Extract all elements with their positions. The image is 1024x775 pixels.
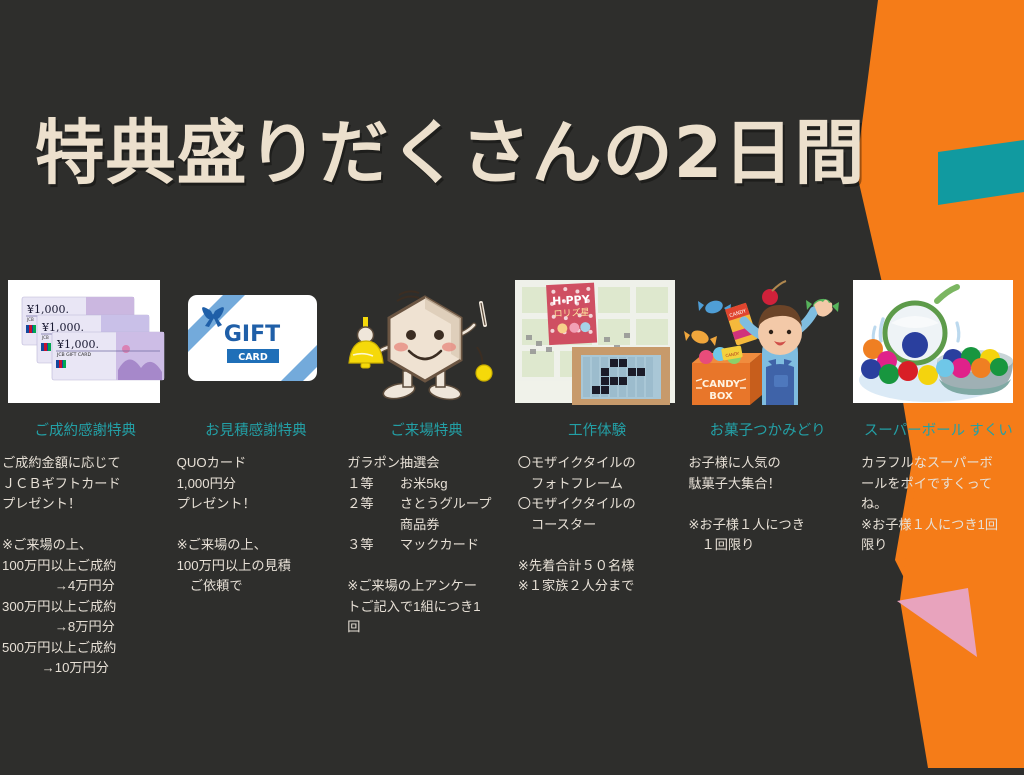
- column-body-text: カラフルなスーパーボ ールをポイですくって ね。 ※お子様１人につき1回 限り: [853, 453, 1024, 556]
- benefit-column-estimate: GIFT CARD お見積感謝特典 QUOカード 1,000円分 プレゼント！ …: [171, 275, 342, 775]
- gift-card-image: GIFT CARD: [171, 275, 342, 408]
- column-heading: スーパーボール すくい: [853, 422, 1024, 441]
- benefit-columns: ¥1,000. JCB ¥1,000. JCB: [0, 275, 1024, 775]
- column-heading: お見積感謝特典: [171, 422, 342, 441]
- svg-text:JCB: JCB: [41, 335, 49, 340]
- column-body-text: お子様に人気の 駄菓子大集合！ ※お子様１人につき １回限り: [682, 453, 853, 556]
- benefit-column-visit: ご来場特典 ガラポン抽選会 １等 お米5kg ２等 さとうグループ 商品券 ３等…: [341, 275, 512, 775]
- svg-text:GIFT: GIFT: [223, 322, 279, 347]
- jcb-gift-cards-image: ¥1,000. JCB ¥1,000. JCB: [0, 275, 171, 408]
- title-block: 特典盛りだくさんの2日間: [0, 108, 900, 198]
- garapon-mascot-image: [341, 275, 512, 408]
- svg-text:JCB GIFT CARD: JCB GIFT CARD: [56, 352, 91, 358]
- benefit-column-craft: H⋅PPY ロリズ星: [512, 275, 683, 775]
- superball-scooping-image: [853, 275, 1024, 408]
- column-body-text: ご成約金額に応じて ＪＣＢギフトカード プレゼント！ ※ご来場の上、 100万円…: [0, 453, 171, 679]
- svg-text:¥1,000.: ¥1,000.: [56, 338, 99, 351]
- svg-text:H⋅PPY: H⋅PPY: [552, 293, 591, 308]
- svg-text:¥1,000.: ¥1,000.: [26, 303, 69, 316]
- benefit-column-candy: CANDY: [682, 275, 853, 775]
- column-body-text: ガラポン抽選会 １等 お米5kg ２等 さとうグループ 商品券 ３等 マックカー…: [341, 453, 512, 638]
- candy-box-boy-image: CANDY: [682, 275, 853, 408]
- svg-text:JCB: JCB: [26, 317, 34, 322]
- column-heading: 工作体験: [512, 422, 683, 441]
- benefit-column-superball: スーパーボール すくい カラフルなスーパーボ ールをポイですくって ね。 ※お子…: [853, 275, 1024, 775]
- column-body-text: QUOカード 1,000円分 プレゼント！ ※ご来場の上、 100万円以上の見積…: [171, 453, 342, 597]
- mosaic-tile-craft-image: H⋅PPY ロリズ星: [512, 275, 683, 408]
- column-heading: ご成約感謝特典: [0, 422, 171, 441]
- svg-text:BOX: BOX: [710, 391, 734, 402]
- svg-text:CARD: CARD: [238, 352, 268, 363]
- column-heading: ご来場特典: [341, 422, 512, 441]
- column-body-text: 〇モザイクタイルの フォトフレーム 〇モザイクタイルの コースター ※先着合計５…: [512, 453, 683, 597]
- benefit-column-contract: ¥1,000. JCB ¥1,000. JCB: [0, 275, 171, 775]
- slide-title: 特典盛りだくさんの2日間: [0, 108, 900, 198]
- column-heading: お菓子つかみどり: [682, 422, 853, 441]
- svg-text:CANDY: CANDY: [702, 379, 741, 390]
